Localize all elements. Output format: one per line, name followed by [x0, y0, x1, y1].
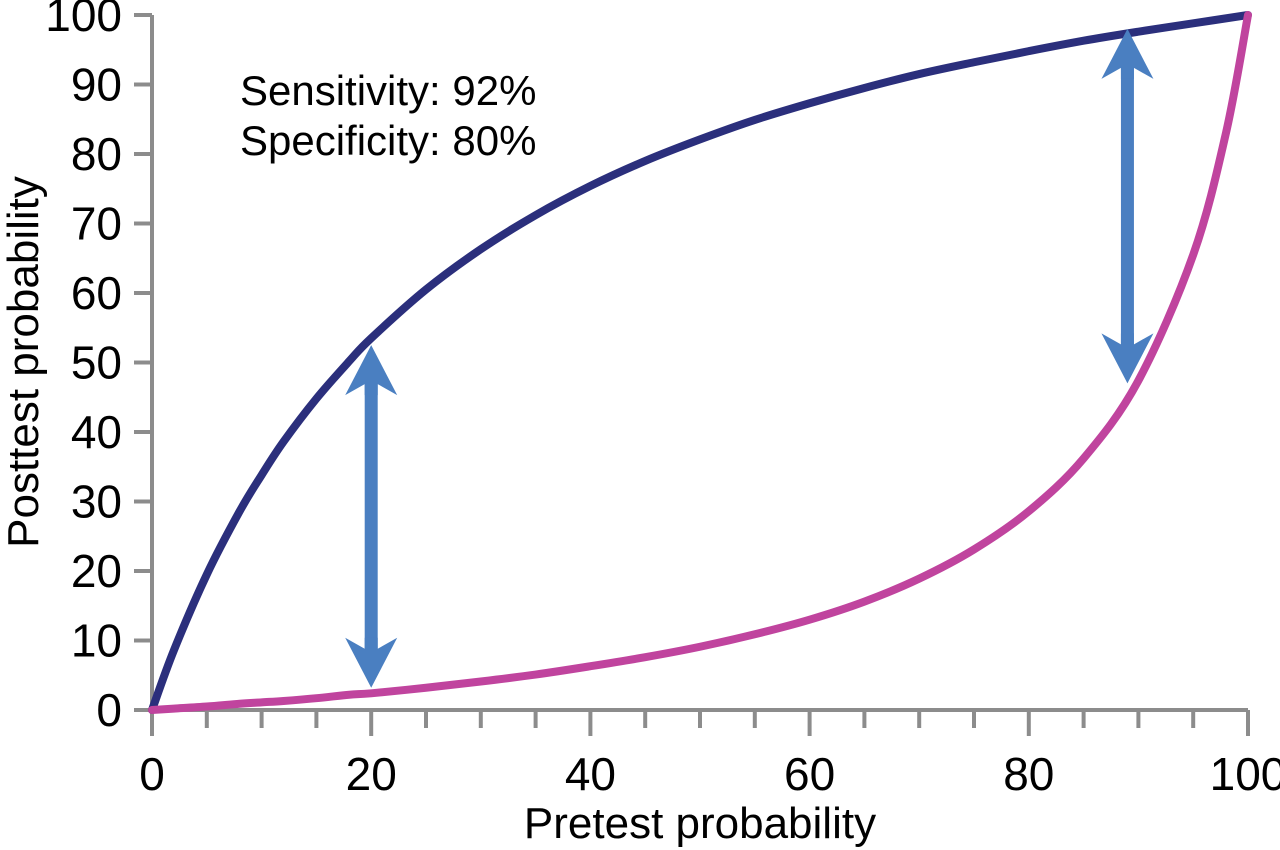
chart-canvas: 0102030405060708090100 020406080100 Sens…: [0, 0, 1280, 850]
x-tick-label-20: 20: [346, 748, 397, 800]
x-tick-label-0: 0: [139, 748, 165, 800]
x-tick-label-100: 100: [1210, 748, 1280, 800]
y-tick-label-100: 100: [45, 0, 122, 41]
x-axis-tick-labels: 020406080100: [139, 748, 1280, 800]
y-tick-label-50: 50: [71, 337, 122, 389]
y-tick-label-0: 0: [96, 684, 122, 736]
specificity-annotation: Specificity: 80%: [240, 117, 536, 164]
x-tick-label-60: 60: [784, 748, 835, 800]
y-tick-label-10: 10: [71, 615, 122, 667]
x-axis-minor-ticks: [152, 710, 1248, 736]
y-axis-tick-labels: 0102030405060708090100: [45, 0, 122, 736]
arrow-right: [1101, 29, 1153, 383]
y-tick-label-70: 70: [71, 198, 122, 250]
y-tick-label-40: 40: [71, 406, 122, 458]
y-tick-label-30: 30: [71, 476, 122, 528]
posttest-probability-chart: 0102030405060708090100 020406080100 Sens…: [0, 0, 1280, 850]
y-axis-title: Posttest probability: [0, 176, 48, 548]
x-tick-label-80: 80: [1003, 748, 1054, 800]
arrow-left: [345, 345, 397, 688]
y-tick-label-90: 90: [71, 59, 122, 111]
x-tick-label-40: 40: [565, 748, 616, 800]
y-axis-ticks: [134, 15, 152, 710]
y-tick-label-60: 60: [71, 267, 122, 319]
arrow-left-head-down: [345, 638, 397, 688]
sensitivity-annotation: Sensitivity: 92%: [240, 67, 536, 114]
y-tick-label-80: 80: [71, 128, 122, 180]
y-tick-label-20: 20: [71, 545, 122, 597]
x-axis-title: Pretest probability: [524, 799, 876, 848]
